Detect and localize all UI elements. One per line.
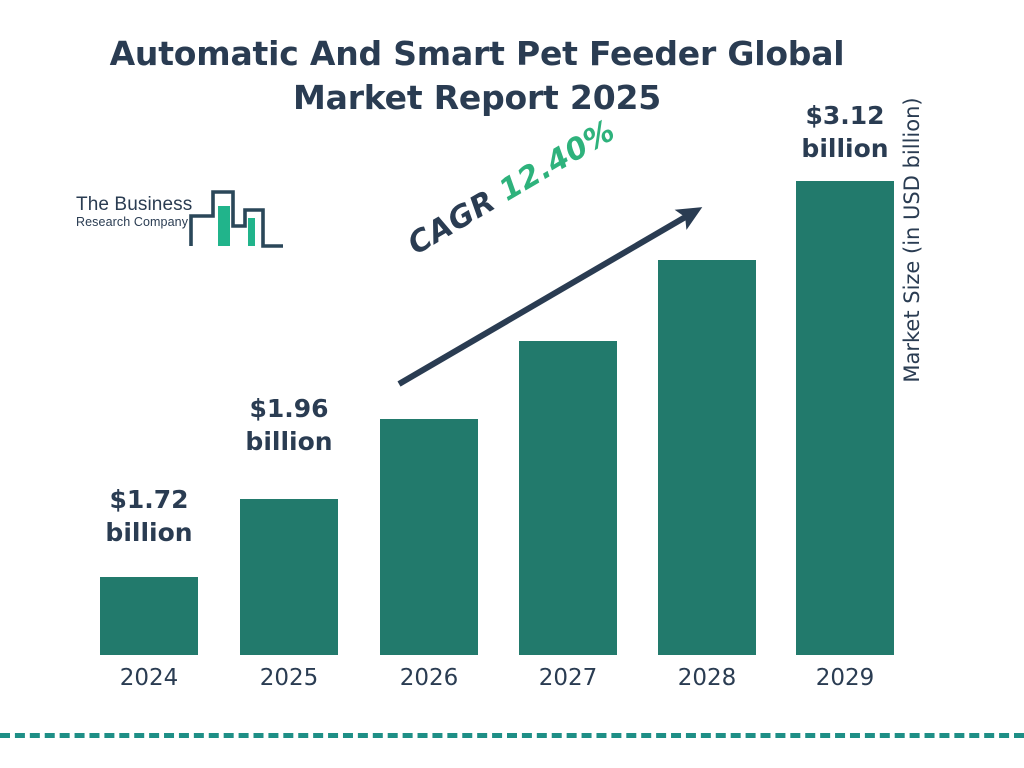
xtick-2024: 2024 (99, 665, 199, 691)
cagr-annotation: CAGR 12.40% (402, 113, 621, 262)
dashed-divider (0, 733, 1024, 738)
bar-2029 (796, 181, 894, 655)
value-label-2024-amount: $1.72 (64, 484, 234, 517)
xtick-2026: 2026 (379, 665, 479, 691)
cagr-label: CAGR (402, 184, 502, 262)
chart-canvas: Automatic And Smart Pet Feeder Global Ma… (0, 0, 1024, 768)
cagr-value: 12.40% (493, 113, 621, 208)
value-label-2025-amount: $1.96 (204, 393, 374, 426)
y-axis-label: Market Size (in USD billion) (900, 60, 924, 420)
xtick-2027: 2027 (518, 665, 618, 691)
bar-2028 (658, 260, 756, 655)
value-label-2025-unit: billion (204, 426, 374, 459)
bar-2024 (100, 577, 198, 655)
bar-2026 (380, 419, 478, 655)
bar-2025 (240, 499, 338, 655)
value-label-2024: $1.72 billion (64, 484, 234, 549)
bar-2027 (519, 341, 617, 655)
plot-area: $1.72 billion $1.96 billion $3.12 billio… (0, 0, 1024, 768)
xtick-2025: 2025 (239, 665, 339, 691)
value-label-2025: $1.96 billion (204, 393, 374, 458)
value-label-2024-unit: billion (64, 517, 234, 550)
xtick-2029: 2029 (795, 665, 895, 691)
xtick-2028: 2028 (657, 665, 757, 691)
